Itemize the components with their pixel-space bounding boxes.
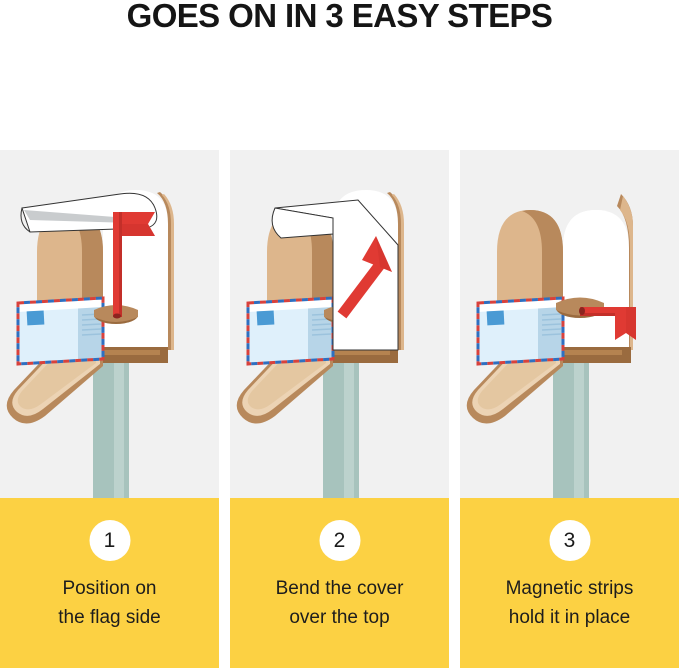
step-number-1: 1 (104, 530, 116, 551)
step-text-3: Magnetic strips hold it in place (460, 574, 679, 632)
step-caption-2: 2 Bend the cover over the top (230, 498, 449, 668)
step-number-badge-2: 2 (319, 520, 360, 561)
step-text-3-line1: Magnetic strips (506, 578, 634, 599)
step-panel-1: 1 Position on the flag side (0, 150, 219, 668)
step-text-1-line1: Position on (62, 578, 156, 599)
infographic-page: GOES ON IN 3 EASY STEPS (0, 0, 679, 668)
envelope (478, 298, 563, 364)
illustration-step-3 (460, 150, 679, 498)
step-text-1: Position on the flag side (0, 574, 219, 632)
steps-row: 1 Position on the flag side (0, 150, 679, 668)
page-title: GOES ON IN 3 EASY STEPS (0, 0, 679, 36)
step-text-2-line1: Bend the cover (276, 578, 404, 599)
envelope (248, 298, 333, 364)
step-text-3-line2: hold it in place (466, 603, 673, 632)
mailbox-post (553, 350, 589, 510)
step-number-badge-3: 3 (549, 520, 590, 561)
step-text-2: Bend the cover over the top (230, 574, 449, 632)
step-text-1-line2: the flag side (6, 603, 213, 632)
step-panel-2: 2 Bend the cover over the top (230, 150, 449, 668)
step-number-2: 2 (334, 530, 346, 551)
step-caption-3: 3 Magnetic strips hold it in place (460, 498, 679, 668)
illustration-step-2 (230, 150, 449, 498)
mailbox-opening (497, 210, 563, 308)
mailbox-post (323, 350, 359, 510)
step-number-3: 3 (564, 530, 576, 551)
step-text-2-line2: over the top (236, 603, 443, 632)
mailbox-post (93, 350, 129, 510)
step-panel-3: 3 Magnetic strips hold it in place (460, 150, 679, 668)
step-number-badge-1: 1 (89, 520, 130, 561)
envelope (18, 298, 103, 364)
illustration-step-1 (0, 150, 219, 498)
step-caption-1: 1 Position on the flag side (0, 498, 219, 668)
